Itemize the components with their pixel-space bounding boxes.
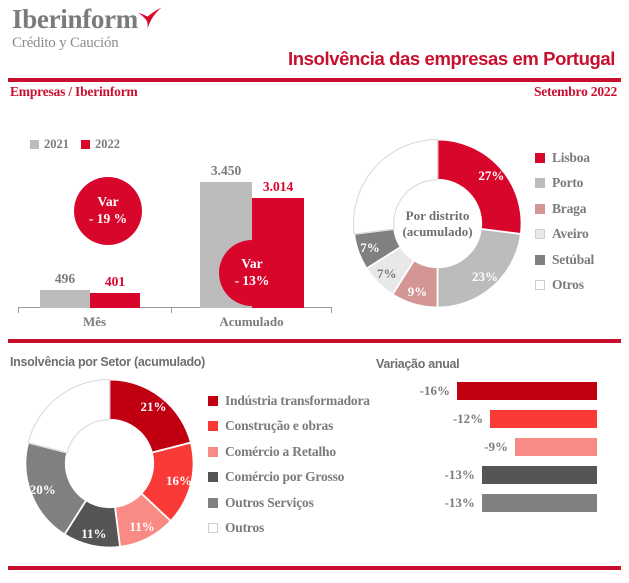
sector-legend-label-1: Indústria transformadora <box>225 393 370 409</box>
variation-row-4: -13% <box>445 466 597 484</box>
variation-bubble-title-mes: Var <box>97 194 118 211</box>
variation-bar-1 <box>457 382 597 400</box>
sector-slice-label-5: 20% <box>30 482 56 498</box>
sector-legend-swatch-3 <box>208 447 218 457</box>
sector-legend-label-5: Outros Serviços <box>225 495 314 511</box>
district-legend-item-4[interactable]: Aveiro <box>535 222 594 248</box>
district-legend-swatch-1 <box>535 153 545 163</box>
legend-item-2022: 2022 <box>81 137 120 152</box>
sector-legend-item-1[interactable]: Indústria transformadora <box>208 388 370 414</box>
variation-value-label-3: -9% <box>484 439 508 455</box>
sector-legend-item-6[interactable]: Outros <box>208 516 370 542</box>
sector-slice-label-1: 21% <box>140 399 166 415</box>
district-legend-label-4: Aveiro <box>552 226 589 242</box>
sector-legend-label-4: Comércio por Grosso <box>225 469 344 485</box>
bar-value-2021-acumulado: 3.450 <box>190 163 262 179</box>
sector-legend-item-4[interactable]: Comércio por Grosso <box>208 465 370 491</box>
variation-row-3: -9% <box>484 438 597 456</box>
district-legend-item-2[interactable]: Porto <box>535 171 594 197</box>
variation-value-label-2: -12% <box>453 411 483 427</box>
bar-value-2022-acumulado: 3.014 <box>242 179 314 195</box>
district-slice-label-4: 7% <box>377 266 397 282</box>
variation-row-2: -12% <box>453 410 597 428</box>
category-label-mes: Mês <box>18 314 171 330</box>
sector-slice-1 <box>110 380 191 453</box>
divider-middle <box>8 339 621 343</box>
legend-item-2021: 2021 <box>30 137 69 152</box>
category-label-acumulado: Acumulado <box>171 314 332 330</box>
district-center-line2: (acumulado) <box>402 224 472 240</box>
brand-tagline: Crédito y Caución <box>12 35 222 52</box>
district-legend-label-3: Braga <box>552 201 586 217</box>
district-legend-item-3[interactable]: Braga <box>535 196 594 222</box>
sector-slice-label-3: 11% <box>129 519 154 535</box>
sector-legend-swatch-1 <box>208 396 218 406</box>
district-slice-label-3: 9% <box>408 284 428 300</box>
legend-label-2022: 2022 <box>95 137 120 152</box>
sector-slice-6 <box>28 380 109 453</box>
variation-bubble-title-acumulado: Var <box>241 256 262 273</box>
variation-bubble-mes: Var - 19 % <box>74 177 142 245</box>
sector-legend-item-3[interactable]: Comércio a Retalho <box>208 439 370 465</box>
variation-value-label-4: -13% <box>445 467 475 483</box>
axis-tick-left <box>18 308 19 313</box>
sector-legend-label-3: Comércio a Retalho <box>225 444 336 460</box>
sector-slice-label-4: 11% <box>81 526 106 542</box>
district-legend-item-1[interactable]: Lisboa <box>535 145 594 171</box>
sector-legend-label-2: Construção e obras <box>225 418 333 434</box>
sector-legend-label-6: Outros <box>225 520 264 536</box>
divider-top <box>8 78 621 82</box>
logo: Iberinform Crédito y Caución <box>12 6 222 52</box>
bar-2022-mes <box>90 293 140 308</box>
district-legend-item-6[interactable]: Otros <box>535 273 594 299</box>
variation-bar-3 <box>515 438 597 456</box>
district-legend-label-5: Setúbal <box>552 252 594 268</box>
sector-donut-svg <box>22 376 197 551</box>
sector-legend-item-2[interactable]: Construção e obras <box>208 414 370 440</box>
variation-row-1: -16% <box>420 382 597 400</box>
sector-legend: Indústria transformadoraConstrução e obr… <box>208 388 370 541</box>
sector-legend-item-5[interactable]: Outros Serviços <box>208 490 370 516</box>
variation-bar-2 <box>490 410 597 428</box>
variation-bubble-value-acumulado: - 13% <box>235 273 270 290</box>
district-legend-swatch-4 <box>535 229 545 239</box>
district-legend-swatch-3 <box>535 204 545 214</box>
district-slice-2 <box>438 229 521 308</box>
district-legend-label-2: Porto <box>552 175 583 191</box>
variation-bar-5 <box>482 494 597 512</box>
sector-legend-swatch-5 <box>208 498 218 508</box>
district-legend-swatch-6 <box>535 280 545 290</box>
district-slice-label-5: 7% <box>360 240 380 256</box>
variation-panel-title: Variação anual <box>376 357 459 371</box>
bar-value-2022-mes: 401 <box>80 274 150 290</box>
sector-legend-swatch-2 <box>208 421 218 431</box>
sector-legend-swatch-4 <box>208 472 218 482</box>
axis-tick-middle <box>171 308 172 313</box>
checkmark-swoosh-icon <box>136 7 162 29</box>
monthly-accumulated-bar-chart: 2021 2022 496 401 Var - 19 % 3.450 3.014… <box>8 130 338 330</box>
page-title: Insolvência das empresas em Portugal <box>288 48 615 70</box>
variation-bubble-acumulado: Var - 13% <box>219 240 285 306</box>
section-label: Empresas / Iberinform <box>10 84 138 100</box>
divider-bottom <box>8 566 621 570</box>
district-donut-center-label: Por distrito (acumulado) <box>402 207 472 240</box>
sector-panel-title: Insolvência por Setor (acumulado) <box>10 355 205 369</box>
sector-slice-label-2: 16% <box>166 473 192 489</box>
sector-donut-chart: 21%16%11%11%20% <box>22 376 197 551</box>
district-legend-item-5[interactable]: Setúbal <box>535 247 594 273</box>
district-center-line1: Por distrito <box>402 207 472 223</box>
legend-swatch-2022 <box>81 140 90 149</box>
district-slice-label-1: 27% <box>478 168 504 184</box>
variation-row-5: -13% <box>445 494 597 512</box>
axis-tick-right <box>331 308 332 313</box>
date-label: Setembro 2022 <box>534 84 617 100</box>
variation-value-label-1: -16% <box>420 383 450 399</box>
legend-swatch-2021 <box>30 140 39 149</box>
district-legend-label-6: Otros <box>552 277 584 293</box>
variation-value-label-5: -13% <box>445 495 475 511</box>
brand-name: Iberinform <box>12 6 222 33</box>
sector-legend-swatch-6 <box>208 523 218 533</box>
district-legend-label-1: Lisboa <box>552 150 590 166</box>
district-donut-chart: Por distrito (acumulado) 27%23%9%7%7% <box>350 136 525 311</box>
district-legend-swatch-2 <box>535 178 545 188</box>
legend-label-2021: 2021 <box>44 137 69 152</box>
bar-2021-mes <box>40 290 90 308</box>
district-slice-label-2: 23% <box>472 269 498 285</box>
bar-chart-legend: 2021 2022 <box>30 137 120 152</box>
variation-bubble-value-mes: - 19 % <box>89 211 127 228</box>
district-legend: LisboaPortoBragaAveiroSetúbalOtros <box>535 145 594 298</box>
variation-bar-4 <box>482 466 597 484</box>
district-legend-swatch-5 <box>535 255 545 265</box>
